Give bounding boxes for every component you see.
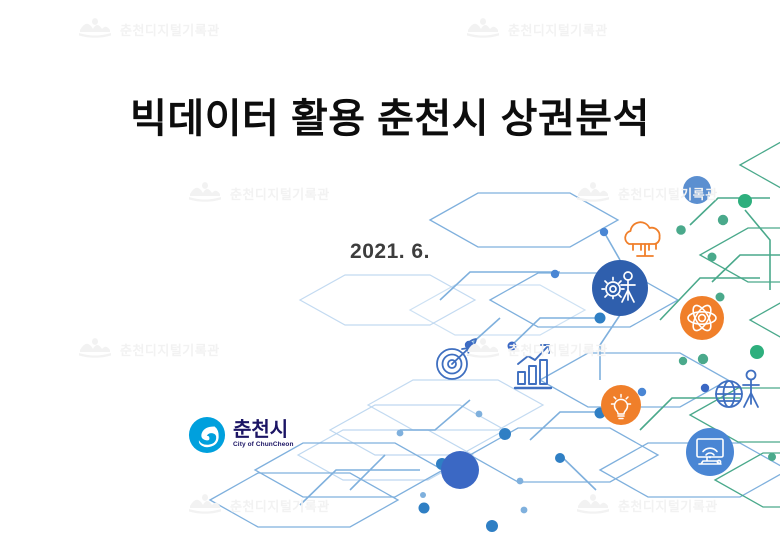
chuncheon-swirl-mark-icon: [188, 416, 226, 454]
accent-dot-green-2: [750, 345, 764, 359]
big-data-network-illustration: [0, 0, 780, 540]
mountain-book-archive-icon: [576, 492, 610, 519]
slide-date: 2021. 6.: [0, 240, 780, 264]
mountain-book-archive-icon: [466, 336, 500, 363]
watermark-text: 춘천디지털기록관: [618, 184, 718, 203]
monitor-wifi-icon: [686, 428, 734, 476]
hexagon-lattice-green: [690, 138, 780, 507]
watermark: 춘천디지털기록관: [188, 180, 330, 207]
logo-city-subname: City of ChunCheon: [233, 442, 294, 449]
watermark: 춘천디지털기록관: [576, 180, 718, 207]
globe-person-icon: [716, 371, 759, 408]
mountain-book-archive-icon: [78, 16, 112, 43]
logo-text-block: 춘천시 City of ChunCheon: [233, 420, 294, 450]
page-title: 빅데이터 활용 춘천시 상권분석: [0, 96, 780, 142]
network-connector-lines: [300, 232, 620, 505]
target-arrow-icon: [437, 339, 476, 379]
accent-circle-blue-top: [683, 176, 711, 204]
watermark: 춘천디지털기록관: [466, 336, 608, 363]
watermark: 춘천디지털기록관: [466, 16, 608, 43]
watermark-layer: 춘천디지털기록관춘천디지털기록관춘천디지털기록관춘천디지털기록관춘천디지털기록관…: [0, 0, 780, 540]
watermark: 춘천디지털기록관: [78, 16, 220, 43]
bar-chart-growth-icon: [515, 345, 551, 388]
person-gear-icon: [592, 260, 648, 316]
mountain-book-archive-icon: [188, 492, 222, 519]
hexagon-lattice-pale: [298, 275, 585, 480]
mountain-book-archive-icon: [188, 180, 222, 207]
watermark-text: 춘천디지털기록관: [120, 20, 220, 39]
mountain-book-archive-icon: [78, 336, 112, 363]
date-block: 2021. 6.: [0, 240, 780, 264]
mountain-book-archive-icon: [466, 16, 500, 43]
chuncheon-city-logo: 춘천시 City of ChunCheon: [188, 416, 294, 454]
watermark-text: 춘천디지털기록관: [508, 340, 608, 359]
watermark-text: 춘천디지털기록관: [618, 496, 718, 515]
watermark-text: 춘천디지털기록관: [230, 184, 330, 203]
presentation-cover-slide: 빅데이터 활용 춘천시 상권분석 2021. 6. 춘천시 City of Ch…: [0, 0, 780, 540]
atom-icon: [680, 296, 724, 340]
watermark-text: 춘천디지털기록관: [508, 20, 608, 39]
network-connector-lines-green: [640, 198, 780, 430]
watermark-text: 춘천디지털기록관: [120, 340, 220, 359]
logo-city-name: 춘천시: [233, 420, 294, 440]
watermark-text: 춘천디지털기록관: [230, 496, 330, 515]
lightbulb-icon: [601, 385, 641, 425]
accent-circle-blue-large: [441, 451, 479, 489]
mountain-book-archive-icon: [576, 180, 610, 207]
watermark: 춘천디지털기록관: [78, 336, 220, 363]
accent-dot-green-1: [738, 194, 752, 208]
watermark: 춘천디지털기록관: [188, 492, 330, 519]
watermark: 춘천디지털기록관: [576, 492, 718, 519]
title-block: 빅데이터 활용 춘천시 상권분석: [0, 96, 780, 142]
